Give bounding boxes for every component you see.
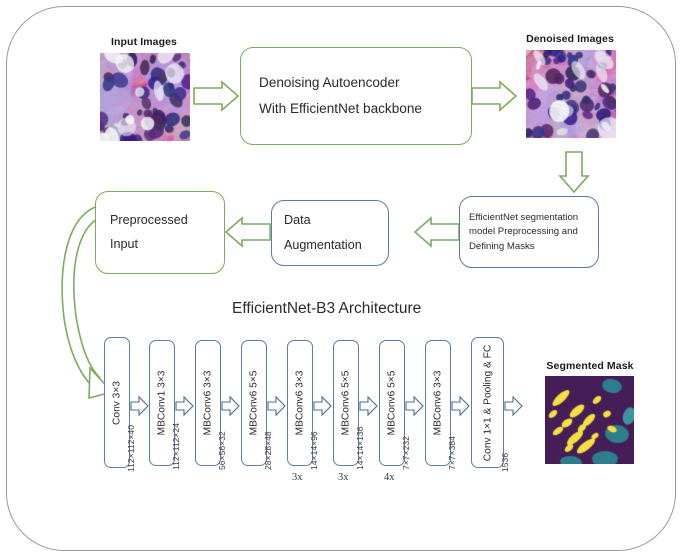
denoised-image-thumbnail [526,50,616,138]
network-block-label: MBConv6 3×3 [433,371,444,436]
network-block-label: Conv 1×1 & Pooling & FC [482,344,493,460]
network-block-output-dims: 56×56×32 [217,431,227,470]
segmentation-line-2: model Preprocessing and [469,226,589,237]
network-block-label: MBConv6 3×3 [203,371,214,436]
network-block-output-dims: 7×7×384 [447,436,457,470]
input-images-caption: Input Images [85,36,203,48]
preprocessed-line-1: Preprocessed [110,214,210,227]
denoising-line-2: With EfficientNet backbone [259,102,453,116]
network-block-label: MBConv1 3×3 [157,371,168,436]
network-block-repeat: 4x [384,472,395,483]
segmentation-line-1: EfficientNet segmentation [469,212,589,223]
segmented-mask-caption: Segmented Mask [534,360,646,372]
network-block-output-dims: 7×7×232 [401,436,411,470]
network-block-output-dims: 112×112×40 [126,425,136,472]
network-block-output-dims: 14×14×96 [309,431,319,470]
network-block-label: MBConv6 5×5 [249,371,260,436]
network-block-label: Conv 3×3 [112,381,123,425]
network-block-label: MBConv6 5×5 [341,371,352,436]
denoised-images-caption: Denoised Images [511,33,629,45]
preprocessed-line-2: Input [110,238,210,251]
denoising-autoencoder-box[interactable]: Denoising Autoencoder With EfficientNet … [240,47,472,145]
segmentation-preprocessing-box[interactable]: EfficientNet segmentation model Preproce… [459,196,599,268]
input-image-thumbnail [100,53,190,141]
preprocessed-input-box[interactable]: Preprocessed Input [95,191,225,274]
network-block-output-dims: 1536 [500,453,510,472]
figure-canvas: Input Images Denoising Autoencoder With … [0,0,685,559]
segmentation-line-3: Defining Masks [469,241,589,252]
network-block-label: MBConv6 5×5 [387,371,398,436]
network-block-output-dims: 14×14×136 [355,427,365,471]
augmentation-line-1: Data [284,214,376,227]
augmentation-line-2: Augmentation [284,239,376,252]
network-block-repeat: 3x [338,472,349,483]
segmented-mask-thumbnail [545,376,634,464]
denoising-line-1: Denoising Autoencoder [259,76,453,90]
network-block-9[interactable]: Conv 1×1 & Pooling & FC [471,337,504,468]
network-block-output-dims: 112×112×24 [171,423,181,470]
architecture-title: EfficientNet-B3 Architecture [232,300,421,318]
network-block-label: MBConv6 3×3 [295,371,306,436]
network-block-repeat: 3x [292,472,303,483]
network-block-output-dims: 28×28×48 [263,431,273,470]
data-augmentation-box[interactable]: Data Augmentation [271,200,389,266]
